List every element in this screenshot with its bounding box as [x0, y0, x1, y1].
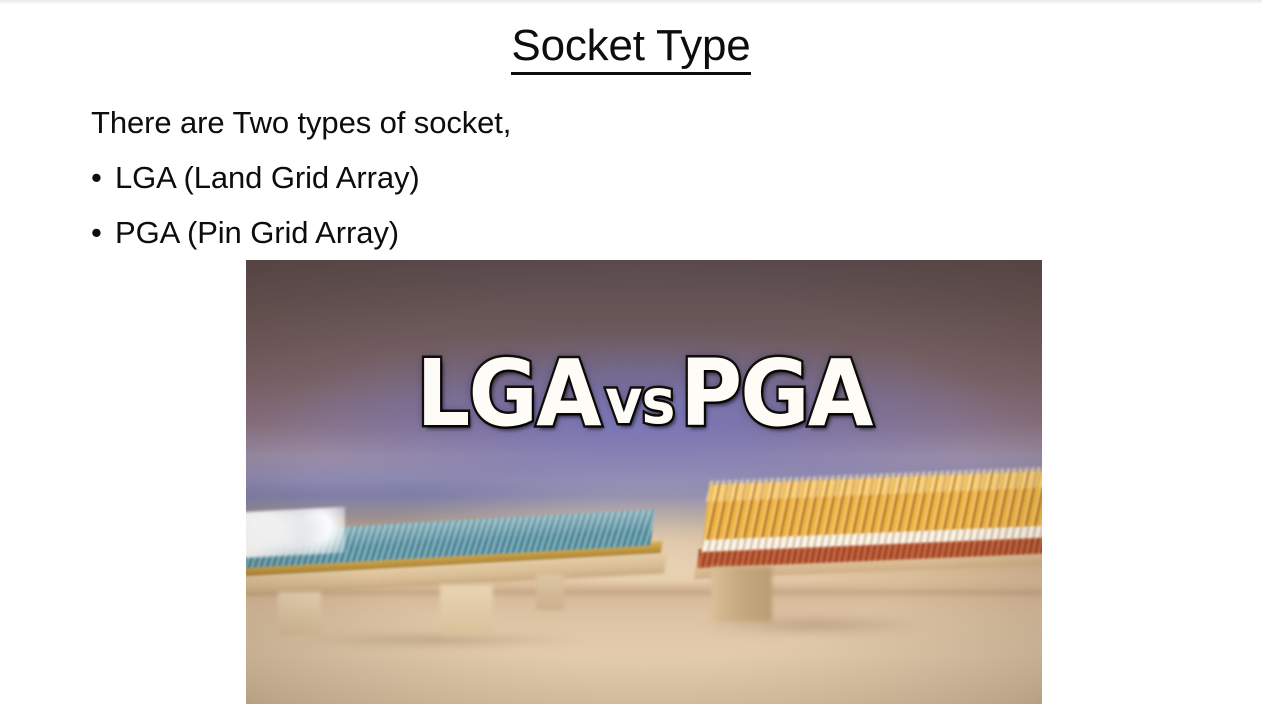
photo-headline: LGAvsPGA: [278, 348, 1010, 440]
bullet-item-pga: • PGA (Pin Grid Array): [91, 205, 851, 260]
slide-canvas: Socket Type There are Two types of socke…: [0, 0, 1262, 720]
bullet-marker-icon: •: [91, 150, 102, 205]
bullet-item-lga: • LGA (Land Grid Array): [91, 150, 851, 205]
intro-line: There are Two types of socket,: [91, 95, 851, 150]
body-text-block: There are Two types of socket, • LGA (La…: [91, 95, 851, 260]
page-title-text: Socket Type: [511, 21, 750, 75]
bullet-item-pga-label: PGA (Pin Grid Array): [115, 215, 399, 250]
photo-vignette: [246, 260, 1042, 704]
photo-headline-vs: vs: [600, 365, 680, 438]
bullet-marker-icon: •: [91, 205, 102, 260]
top-edge-strip: [0, 0, 1262, 4]
photo-headline-pga: PGA: [680, 340, 872, 447]
page-title: Socket Type: [0, 23, 1262, 70]
lga-vs-pga-image: LGAvsPGA: [246, 260, 1042, 704]
bullet-item-lga-label: LGA (Land Grid Array): [115, 160, 420, 195]
photo-headline-lga: LGA: [416, 340, 599, 447]
